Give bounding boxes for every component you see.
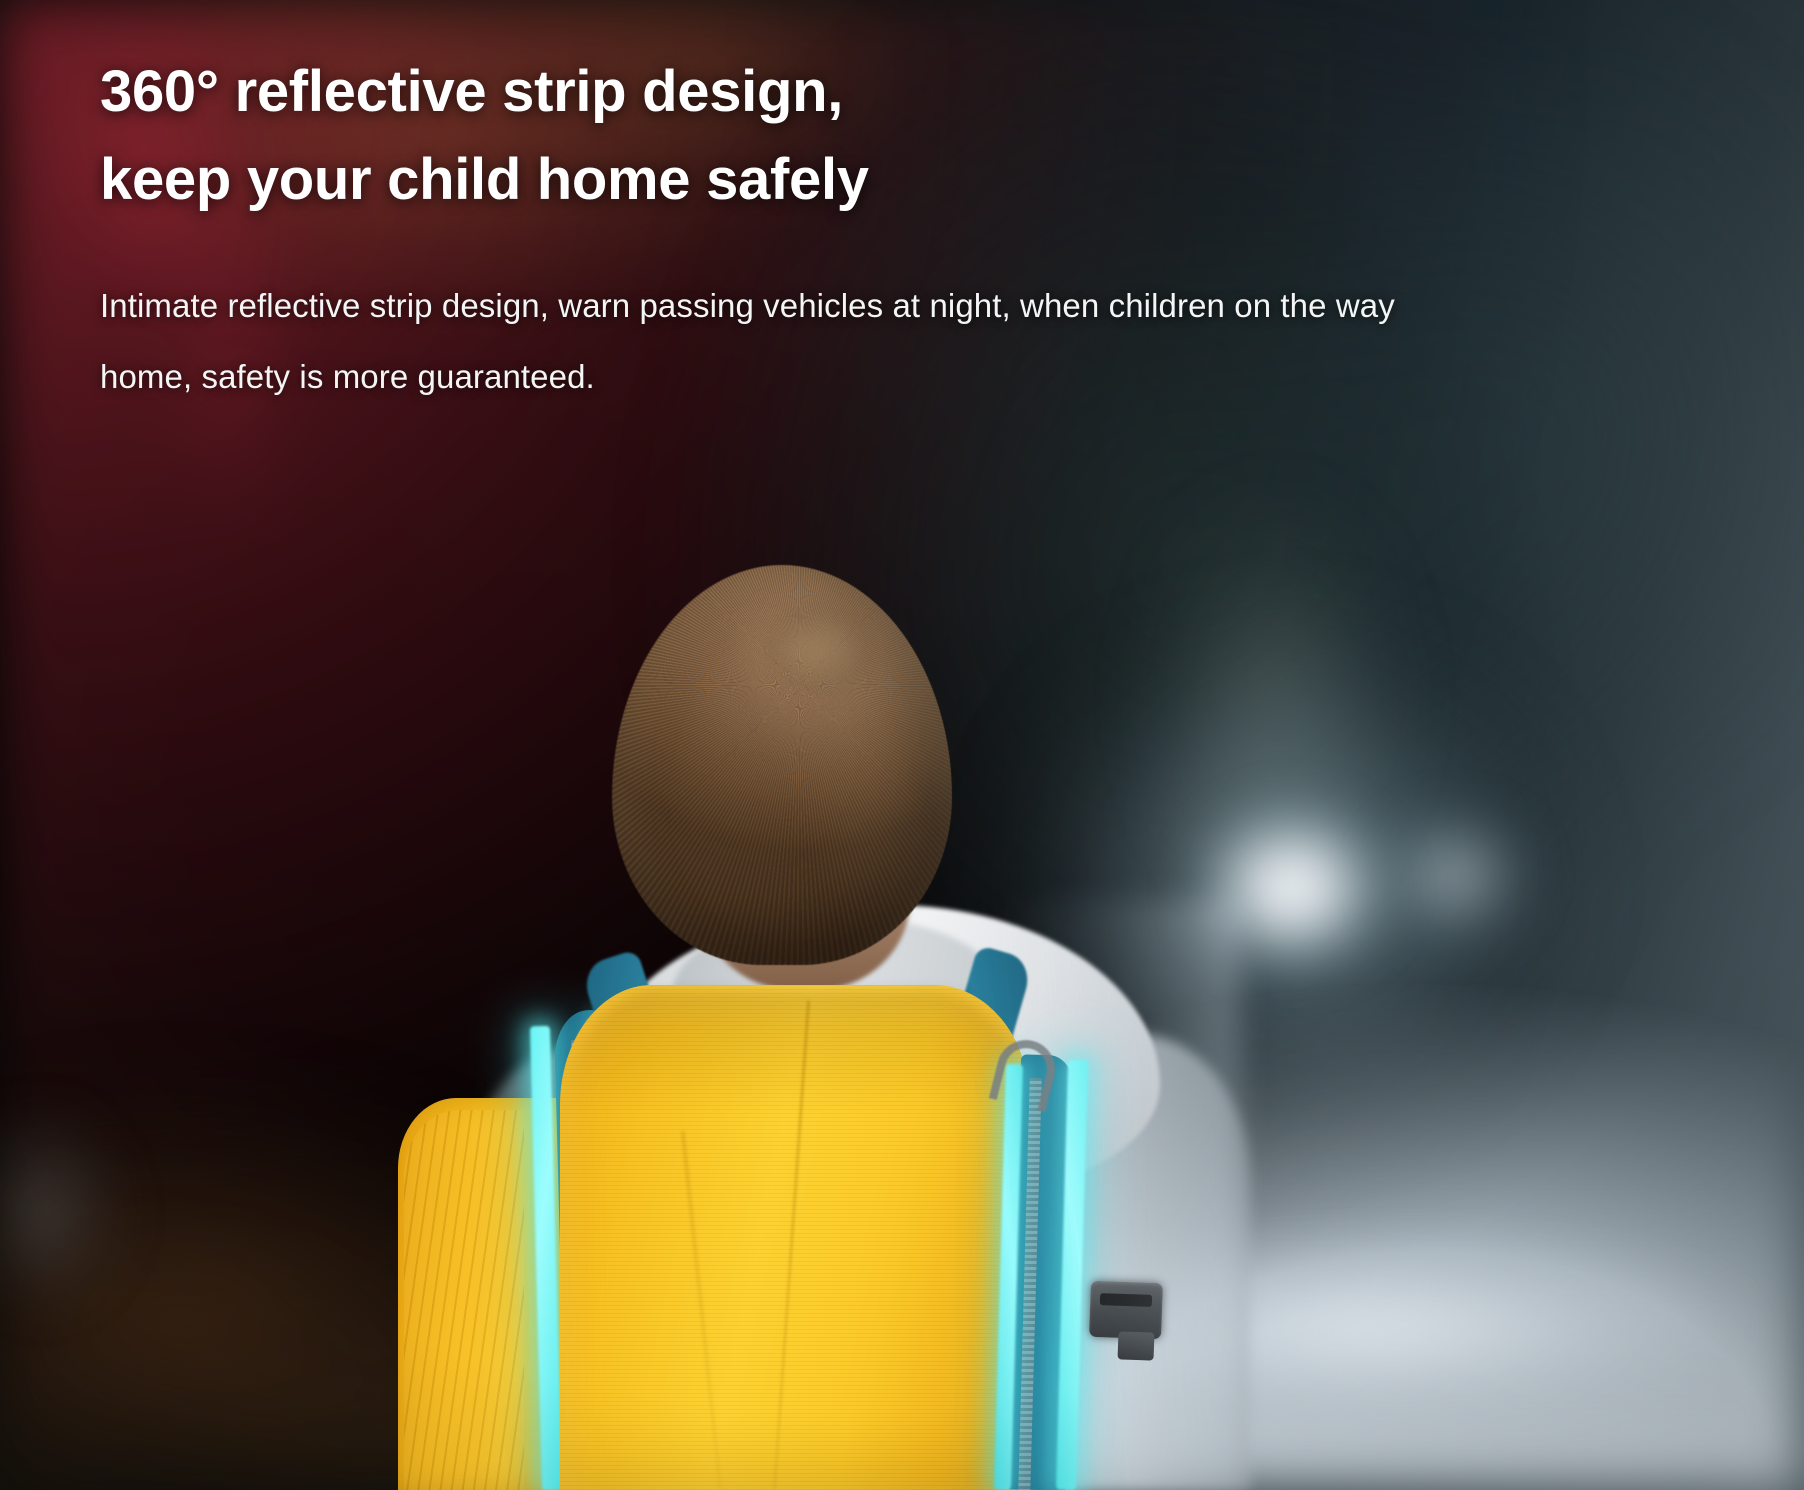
backpack-buckle-slot: [1100, 1293, 1152, 1307]
backpack-buckle: [1089, 1281, 1163, 1339]
backpack-side-ribbing: [404, 1110, 524, 1490]
marketing-copy-block: 360° reflective strip design, keep your …: [100, 48, 1520, 413]
product-feature-banner: 360° reflective strip design, keep your …: [0, 0, 1804, 1490]
banner-headline: 360° reflective strip design, keep your …: [100, 48, 1520, 224]
backpack-flap-shadow: [566, 990, 1024, 1110]
backpack-buckle-strap-tail: [1118, 1331, 1155, 1360]
hair-rim-light: [612, 565, 952, 965]
banner-subcopy: Intimate reflective strip design, warn p…: [100, 271, 1480, 413]
